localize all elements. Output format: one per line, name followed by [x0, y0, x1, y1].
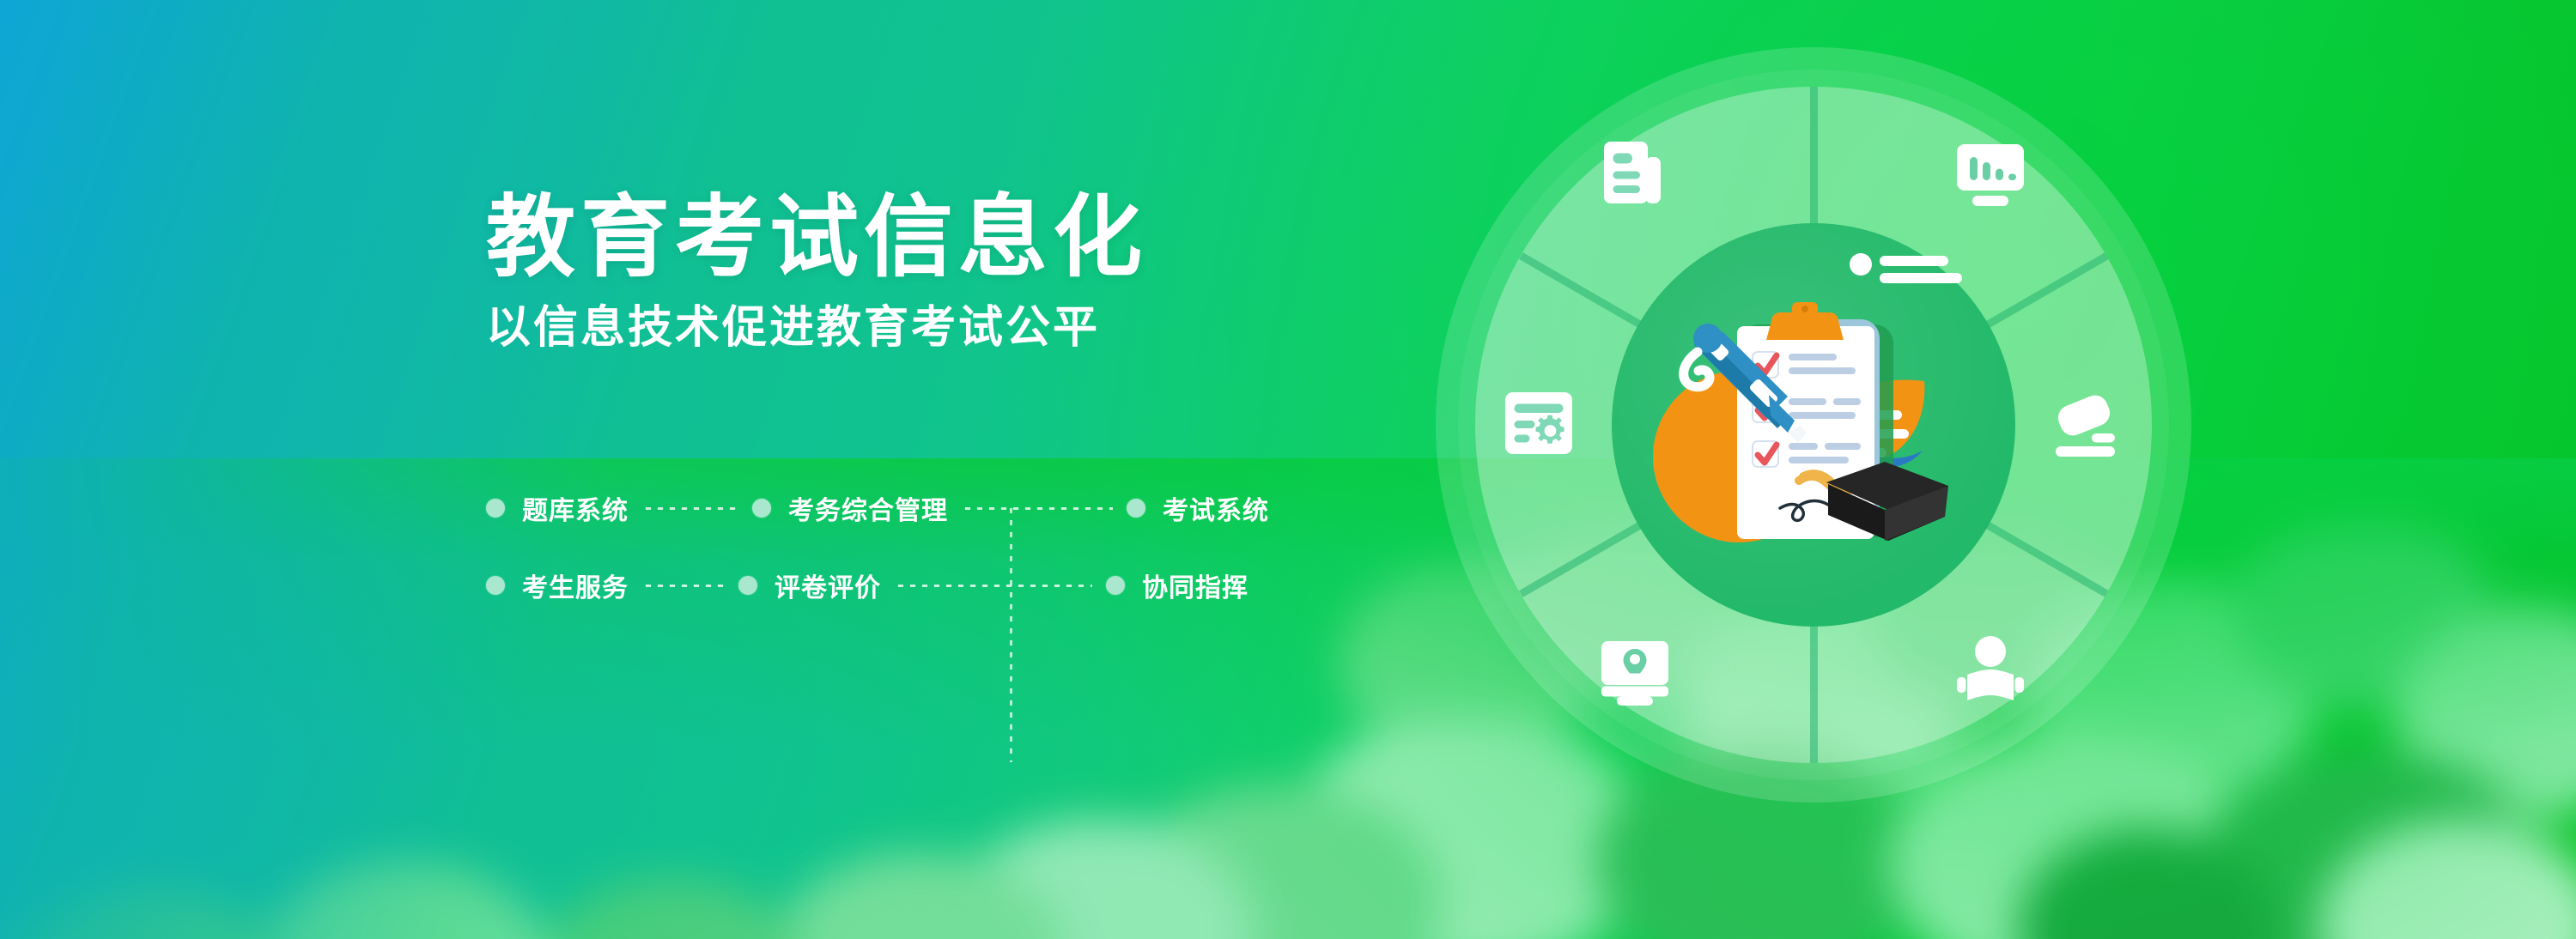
settings-card-icon [1498, 382, 1580, 464]
feature-item-pingjuan[interactable]: 评卷评价 [738, 566, 881, 604]
bullet-dot-icon [752, 499, 771, 518]
feature-item-kaosheng[interactable]: 考生服务 [486, 566, 629, 604]
monitor-location-icon [1594, 631, 1676, 713]
stamp-seal-icon [2045, 382, 2128, 464]
background-left-wash [0, 0, 1073, 939]
feature-item-kaoshi[interactable]: 考试系统 [1127, 489, 1269, 527]
feature-label: 考试系统 [1163, 489, 1269, 527]
feature-item-tiku[interactable]: 题库系统 [486, 489, 629, 527]
bullet-dot-icon [1106, 576, 1125, 595]
dotted-connector [642, 507, 738, 510]
bullet-dot-icon [486, 499, 505, 518]
feature-item-kaowu[interactable]: 考务综合管理 [752, 489, 948, 527]
bullet-dot-icon [738, 576, 757, 595]
capability-wheel [1436, 47, 2191, 803]
feature-label: 考务综合管理 [788, 489, 948, 527]
dotted-connector [642, 585, 725, 587]
exam-clipboard-illustration [1612, 223, 2015, 627]
dotted-connector [962, 507, 1113, 510]
feature-label: 题库系统 [522, 489, 629, 527]
page-subtitle: 以信息技术促进教育考试公平 [486, 304, 1147, 353]
feature-label: 考生服务 [522, 566, 629, 604]
feature-label: 评卷评价 [775, 566, 881, 604]
vertical-dotted-connector [1010, 505, 1012, 762]
person-reading-book-icon [1949, 631, 2032, 713]
feature-item-xietong[interactable]: 协同指挥 [1106, 566, 1249, 604]
feature-list: 题库系统 考务综合管理 考试系统 考生服务 评卷评价 [486, 486, 1269, 608]
headline-block: 教育考试信息化 以信息技术促进教育考试公平 [486, 191, 1147, 353]
bullet-dot-icon [1127, 499, 1145, 518]
feature-row: 考生服务 评卷评价 协同指挥 [486, 563, 1269, 608]
document-list-icon [1594, 131, 1676, 214]
hero-banner: 教育考试信息化 以信息技术促进教育考试公平 题库系统 考务综合管理 考试系统 考 [0, 0, 2576, 939]
page-title: 教育考试信息化 [486, 191, 1147, 285]
bullet-dot-icon [486, 576, 505, 595]
decor-dot [1850, 253, 1872, 276]
dotted-connector [895, 585, 1092, 587]
feature-row: 题库系统 考务综合管理 考试系统 [486, 486, 1269, 530]
bar-chart-monitor-icon [1949, 131, 2032, 214]
feature-label: 协同指挥 [1142, 566, 1249, 604]
